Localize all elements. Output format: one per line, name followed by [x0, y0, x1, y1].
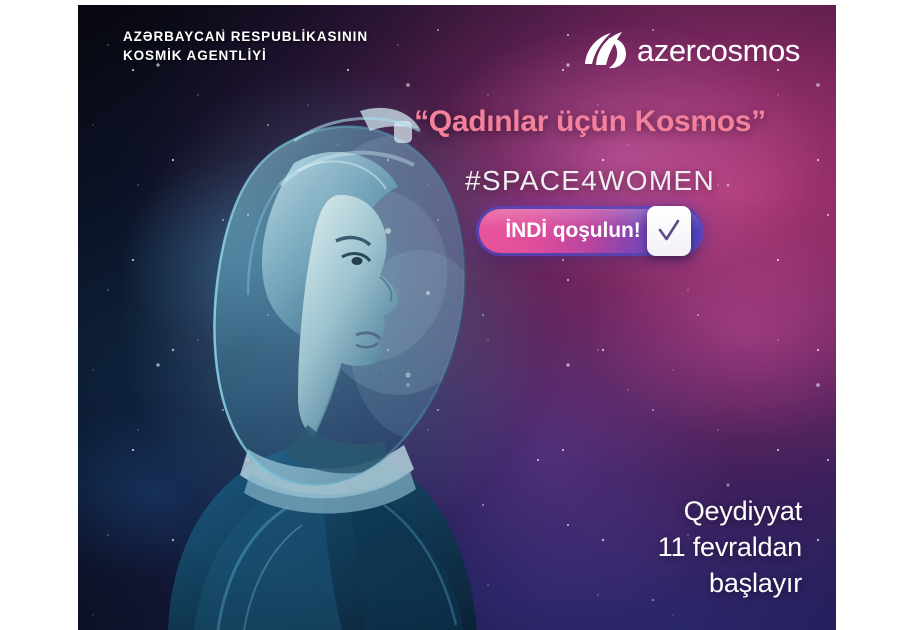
campaign-headline: “Qadınlar üçün Kosmos” [378, 105, 802, 139]
cta-container: İNDİ qoşulun! [378, 209, 802, 253]
page-canvas: AZƏRBAYCAN RESPUBLİKASININ KOSMİK AGENTL… [0, 0, 923, 630]
join-now-label: İNDİ qoşulun! [505, 219, 640, 243]
campaign-banner: AZƏRBAYCAN RESPUBLİKASININ KOSMİK AGENTL… [78, 5, 836, 630]
checkmark-icon [657, 218, 681, 244]
azercosmos-swoosh-icon [582, 30, 628, 70]
campaign-hashtag: #SPACE4WOMEN [378, 165, 802, 197]
join-now-button[interactable]: İNDİ qoşulun! [479, 209, 700, 253]
checkmark-badge[interactable] [647, 206, 691, 256]
azercosmos-wordmark: azercosmos [637, 35, 800, 66]
azercosmos-logo[interactable]: azercosmos [582, 30, 800, 70]
agency-title: AZƏRBAYCAN RESPUBLİKASININ KOSMİK AGENTL… [123, 27, 368, 65]
registration-note: Qeydiyyat 11 fevraldan başlayır [658, 494, 802, 602]
